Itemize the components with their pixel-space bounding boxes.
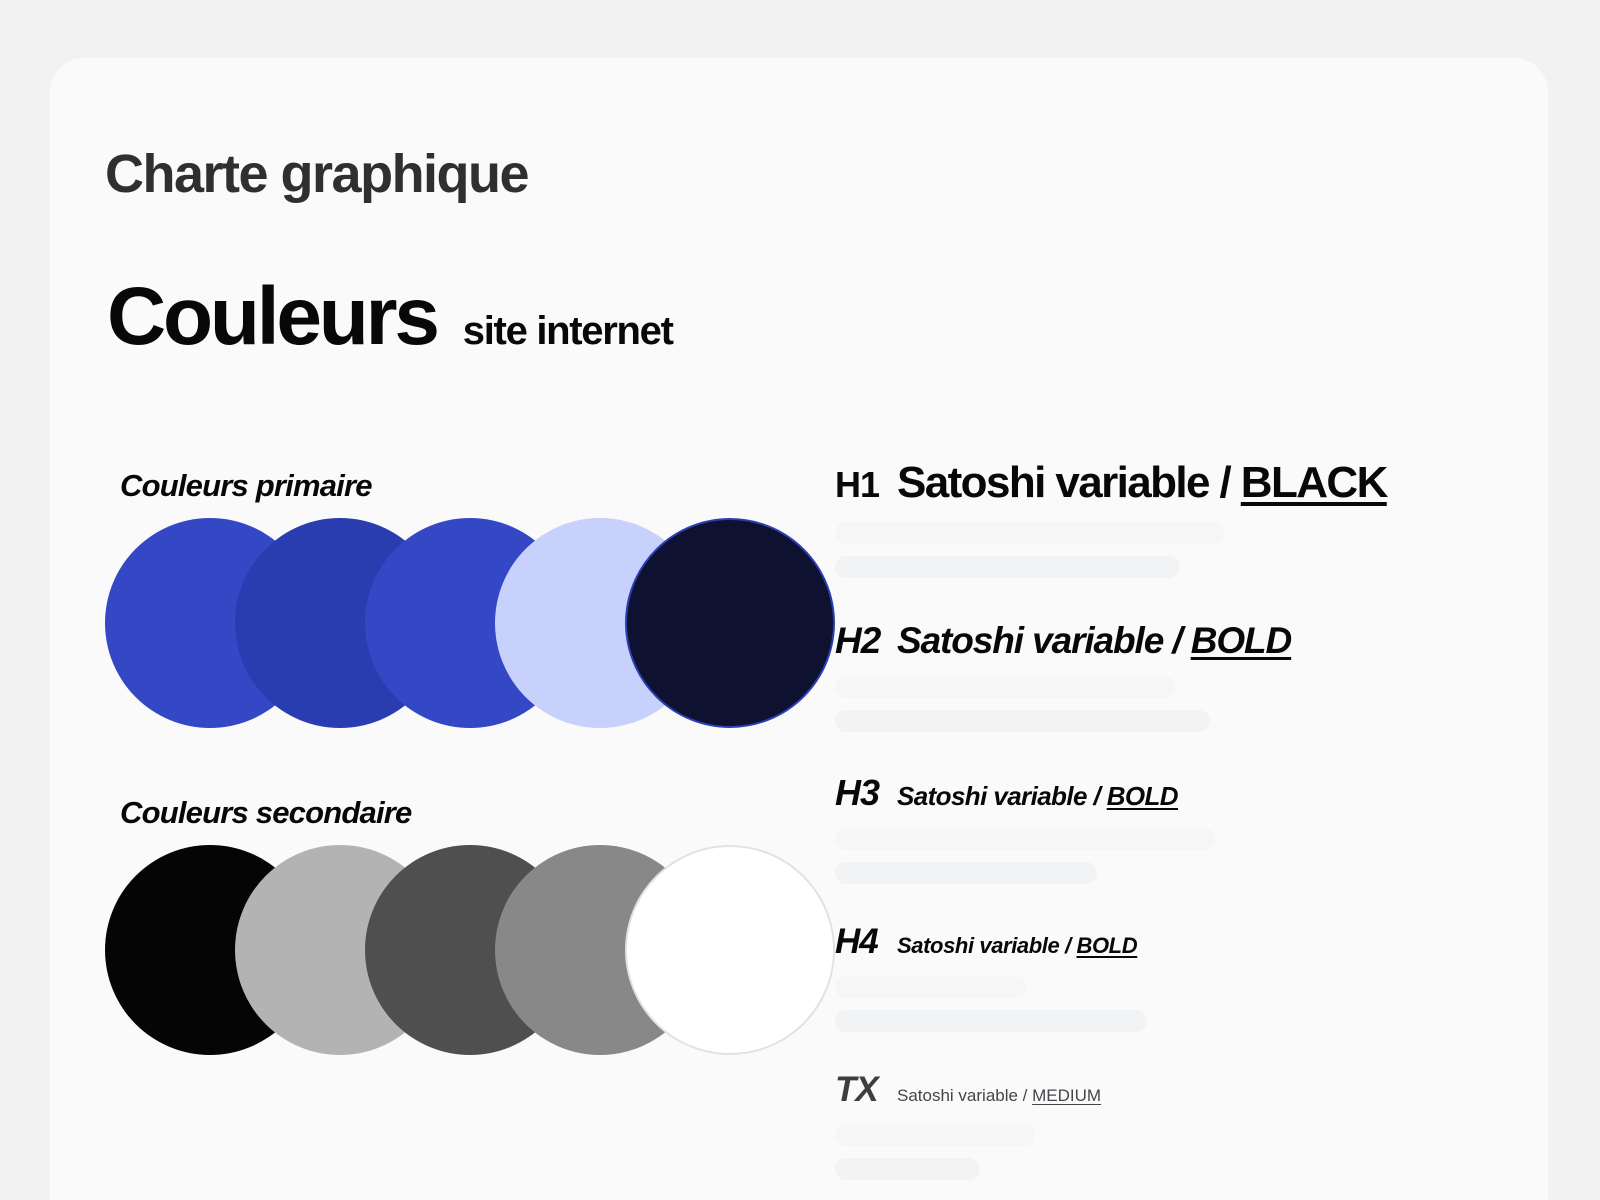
type-style-header: TXSatoshi variable / MEDIUM: [835, 1070, 1495, 1110]
placeholder-bar: [835, 862, 1097, 884]
type-style-h4: H4Satoshi variable / BOLD: [835, 922, 1495, 1032]
placeholder-bar: [835, 710, 1210, 732]
typography-scale: H1Satoshi variable / BLACKH2Satoshi vari…: [835, 458, 1495, 1192]
style-guide-card: Charte graphique Couleurs site internet …: [50, 58, 1548, 1200]
placeholder-bar: [835, 1124, 1035, 1146]
palette-swatches-primary: [105, 518, 835, 728]
type-weight-label: BOLD: [1107, 781, 1178, 811]
type-style-header: H2Satoshi variable / BOLD: [835, 620, 1495, 662]
type-weight-label: BOLD: [1076, 933, 1137, 958]
type-spec-label: Satoshi variable / BLACK: [897, 458, 1387, 508]
page-title: Couleurs site internet: [107, 276, 673, 358]
placeholder-bar: [835, 976, 1027, 998]
color-swatch-primary-navy[interactable]: [625, 518, 835, 728]
page-eyebrow: Charte graphique: [105, 143, 528, 205]
type-style-header: H3Satoshi variable / BOLD: [835, 772, 1495, 814]
type-tag-label: TX: [835, 1070, 897, 1110]
type-style-tx: TXSatoshi variable / MEDIUM: [835, 1070, 1495, 1180]
palette-label-primary: Couleurs primaire: [120, 468, 372, 504]
type-tag-label: H2: [835, 620, 897, 662]
type-style-header: H4Satoshi variable / BOLD: [835, 922, 1495, 962]
type-style-h1: H1Satoshi variable / BLACK: [835, 458, 1495, 578]
type-spec-label: Satoshi variable / BOLD: [897, 933, 1137, 959]
type-spec-label: Satoshi variable / MEDIUM: [897, 1086, 1101, 1106]
placeholder-bar: [835, 1158, 980, 1180]
style-guide-page: Charte graphique Couleurs site internet …: [0, 0, 1600, 1200]
palette-swatches-secondary: [105, 845, 835, 1055]
page-title-sub: site internet: [463, 311, 673, 351]
placeholder-bar: [835, 1010, 1147, 1032]
type-placeholder-bars: [835, 828, 1495, 884]
type-weight-label: MEDIUM: [1032, 1086, 1101, 1105]
type-style-h2: H2Satoshi variable / BOLD: [835, 620, 1495, 732]
type-placeholder-bars: [835, 522, 1495, 578]
type-weight-label: BLACK: [1241, 458, 1387, 507]
type-placeholder-bars: [835, 976, 1495, 1032]
type-tag-label: H1: [835, 464, 897, 506]
type-style-h3: H3Satoshi variable / BOLD: [835, 772, 1495, 884]
palette-label-secondary: Couleurs secondaire: [120, 795, 411, 831]
type-placeholder-bars: [835, 676, 1495, 732]
placeholder-bar: [835, 556, 1180, 578]
placeholder-bar: [835, 676, 1175, 698]
type-spec-label: Satoshi variable / BOLD: [897, 620, 1291, 662]
placeholder-bar: [835, 828, 1215, 850]
type-tag-label: H4: [835, 922, 897, 962]
type-weight-label: BOLD: [1191, 620, 1291, 661]
type-tag-label: H3: [835, 772, 897, 814]
page-title-main: Couleurs: [107, 276, 437, 358]
type-spec-label: Satoshi variable / BOLD: [897, 781, 1178, 812]
color-swatch-secondary-white[interactable]: [625, 845, 835, 1055]
placeholder-bar: [835, 522, 1225, 544]
type-placeholder-bars: [835, 1124, 1495, 1180]
type-style-header: H1Satoshi variable / BLACK: [835, 458, 1495, 508]
